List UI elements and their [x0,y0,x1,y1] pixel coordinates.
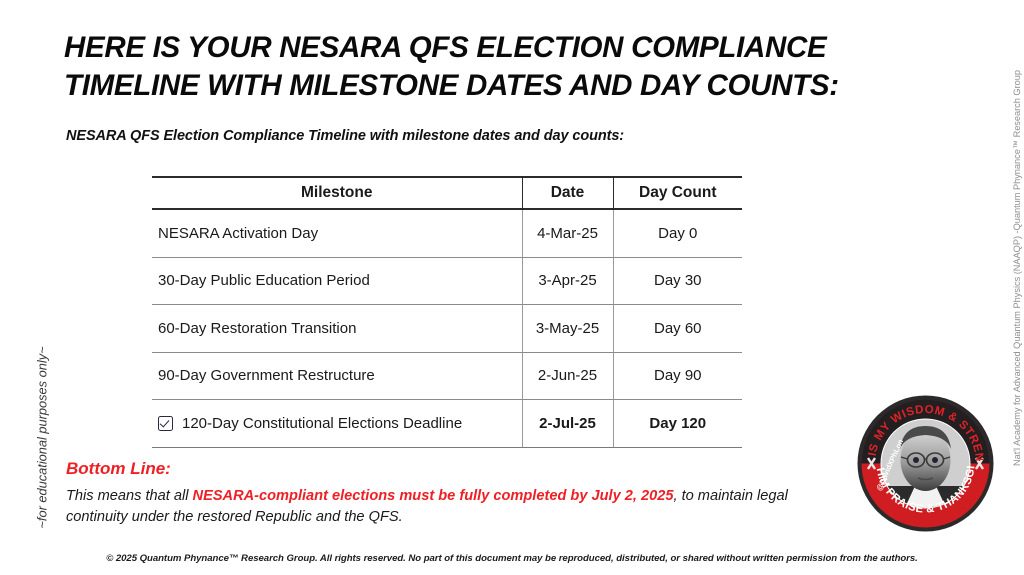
cell-milestone: 60-Day Restoration Transition [152,305,522,353]
cell-milestone: 30-Day Public Education Period [152,257,522,305]
page-title-line-2: TIMELINE WITH MILESTONE DATES AND DAY CO… [64,67,944,105]
timeline-table-container: Milestone Date Day Count NESARA Activati… [152,176,742,448]
cell-date: 3-May-25 [522,305,613,353]
bottom-line-highlight: NESARA-compliant elections must be fully… [193,488,674,504]
side-note-organization: Nat'l Academy for Advanced Quantum Physi… [1012,58,1022,478]
bottom-line-heading: Bottom Line: [66,459,171,479]
column-header-milestone: Milestone [152,177,522,209]
cell-date: 4-Mar-25 [522,209,613,257]
side-note-educational: ~for educational purposes only~ [35,323,50,553]
table-row: 90-Day Government Restructure 2-Jun-25 D… [152,352,742,400]
bottom-line-text-before: This means that all [66,488,193,504]
table-row: NESARA Activation Day 4-Mar-25 Day 0 [152,209,742,257]
table-row: 60-Day Restoration Transition 3-May-25 D… [152,305,742,353]
footer-copyright: © 2025 Quantum Phynance™ Research Group.… [0,553,1024,564]
column-header-day-count: Day Count [613,177,742,209]
cell-day-count: Day 0 [613,209,742,257]
checkbox-checked-icon[interactable] [158,416,173,431]
table-body: NESARA Activation Day 4-Mar-25 Day 0 30-… [152,209,742,447]
cell-date: 3-Apr-25 [522,257,613,305]
cell-date: 2-Jul-25 [522,400,613,448]
cell-day-count: Day 30 [613,257,742,305]
bottom-line-body: This means that all NESARA-compliant ele… [66,486,811,527]
page-title-line-1: HERE IS YOUR NESARA QFS ELECTION COMPLIA… [64,29,944,67]
cell-day-count: Day 120 [613,400,742,448]
table-row-final: 120-Day Constitutional Elections Deadlin… [152,400,742,448]
table-row: 30-Day Public Education Period 3-Apr-25 … [152,257,742,305]
timeline-table: Milestone Date Day Count NESARA Activati… [152,176,742,448]
cell-milestone: 90-Day Government Restructure [152,352,522,400]
column-header-date: Date [522,177,613,209]
table-header-row: Milestone Date Day Count [152,177,742,209]
footer-divider [0,540,1024,541]
organization-badge: GOD IS MY WISDOM & STRENGTH GIVE HIM PRA… [856,394,995,533]
cell-day-count: Day 60 [613,305,742,353]
page-subtitle: NESARA QFS Election Compliance Timeline … [66,128,624,144]
cell-milestone-label: 120-Day Constitutional Elections Deadlin… [182,415,462,432]
cell-milestone: 120-Day Constitutional Elections Deadlin… [152,400,522,448]
cell-date: 2-Jun-25 [522,352,613,400]
cell-day-count: Day 90 [613,352,742,400]
page-title: HERE IS YOUR NESARA QFS ELECTION COMPLIA… [64,29,944,105]
table-header: Milestone Date Day Count [152,177,742,209]
badge-graphic: GOD IS MY WISDOM & STRENGTH GIVE HIM PRA… [856,394,995,533]
cell-milestone: NESARA Activation Day [152,209,522,257]
